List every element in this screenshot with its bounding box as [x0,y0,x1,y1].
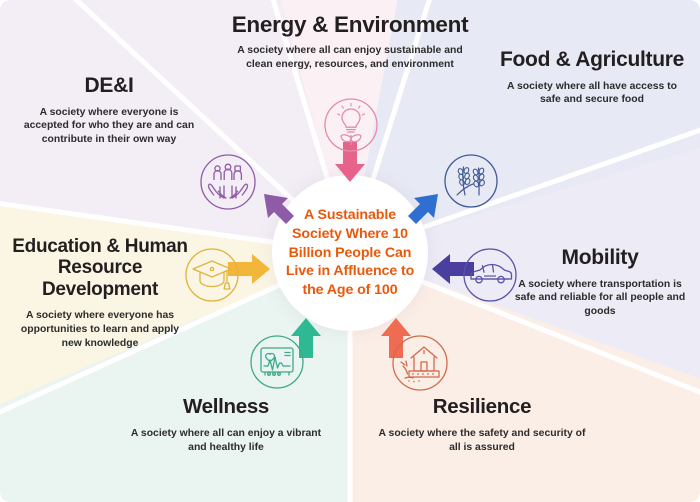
arrow-food [400,188,444,232]
wheat-stalks-icon [443,153,499,209]
section-desc-mobility: A society where transportation is safe a… [510,278,690,320]
section-mobility: Mobility A society where transportation … [510,246,690,319]
section-dei: DE&I A society where everyone is accepte… [14,74,204,147]
arrow-dei [258,188,302,232]
section-title-wellness: Wellness [120,396,332,419]
section-wellness: Wellness A society where all can enjoy a… [120,396,332,455]
section-resilience: Resilience A society where the safety an… [374,396,590,455]
section-energy: Energy & Environment A society where all… [222,12,478,72]
section-desc-energy: A society where all can enjoy sustainabl… [222,44,478,72]
section-desc-resilience: A society where the safety and security … [374,427,590,455]
section-title-energy: Energy & Environment [222,12,478,37]
car-icon [462,247,518,303]
section-education: Education & Human Resource Development A… [12,236,188,351]
lightbulb-plant-icon [323,97,379,153]
section-desc-education: A society where everyone has opportuniti… [12,309,188,351]
section-title-food: Food & Agriculture [494,48,690,72]
protected-house-icon [391,334,449,392]
section-food: Food & Agriculture A society where all h… [494,48,690,107]
section-title-mobility: Mobility [510,246,690,270]
section-title-resilience: Resilience [374,396,590,419]
graduation-cap-icon [184,247,240,303]
section-title-dei: DE&I [14,74,204,98]
section-title-education: Education & Human Resource Development [12,236,188,300]
section-desc-wellness: A society where all can enjoy a vibrant … [120,427,332,455]
section-desc-dei: A society where everyone is accepted for… [14,106,204,148]
heart-monitor-icon [249,334,305,390]
infographic-canvas: A Sustainable Society Where 10 Billion P… [0,0,700,502]
section-desc-food: A society where all have access to safe … [494,80,690,108]
hands-holding-people-icon [199,153,257,211]
